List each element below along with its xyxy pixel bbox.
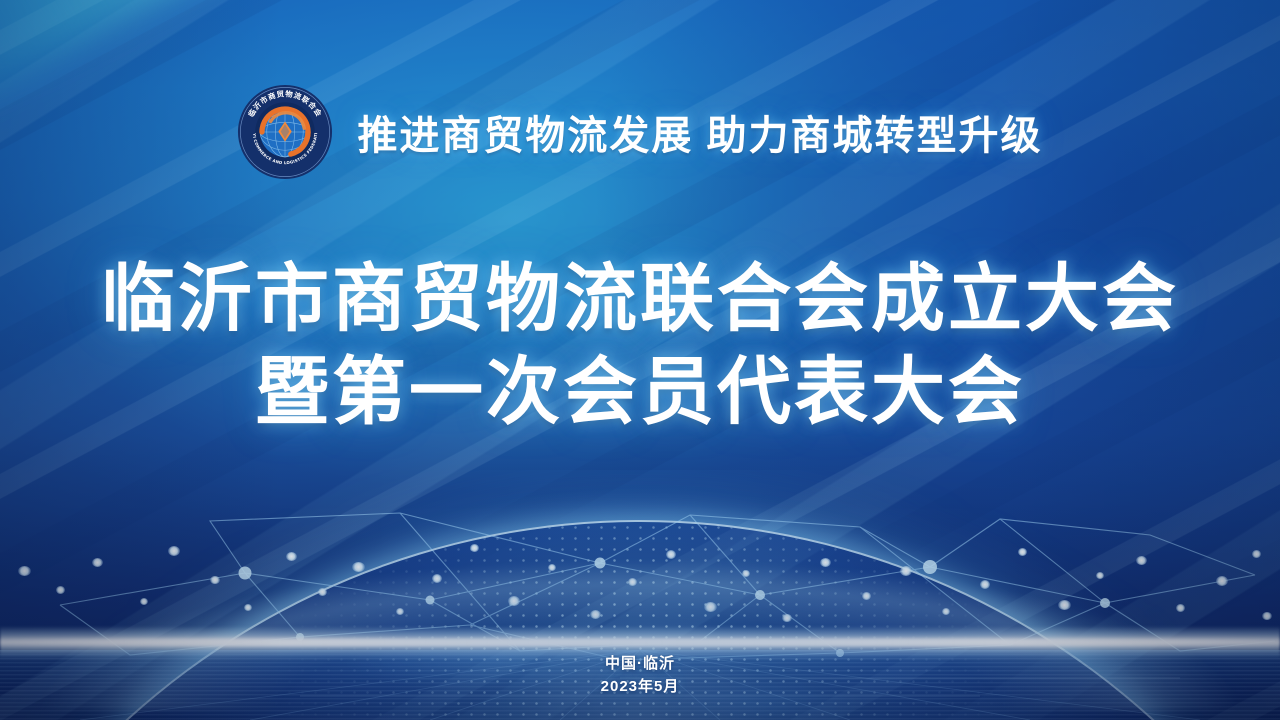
footer-date: 2023年5月 (0, 675, 1280, 698)
title-line-2: 暨第一次会员代表大会 (0, 345, 1280, 438)
header-slogan: 推进商贸物流发展 助力商城转型升级 (357, 103, 1042, 161)
poster-footer: 中国·临沂 2023年5月 (0, 652, 1280, 699)
event-poster: 临沂市商贸物流联合会 LINYI COMMERCE AND LOGISTICS … (0, 0, 1280, 720)
poster-title: 临沂市商贸物流联合会成立大会 暨第一次会员代表大会 (0, 252, 1280, 438)
title-line-1: 临沂市商贸物流联合会成立大会 (0, 252, 1280, 345)
horizon-core-beam (0, 639, 1280, 646)
federation-logo-icon: 临沂市商贸物流联合会 LINYI COMMERCE AND LOGISTICS … (237, 84, 333, 180)
poster-header: 临沂市商贸物流联合会 LINYI COMMERCE AND LOGISTICS … (0, 84, 1280, 180)
footer-location: 中国·临沂 (0, 652, 1280, 675)
